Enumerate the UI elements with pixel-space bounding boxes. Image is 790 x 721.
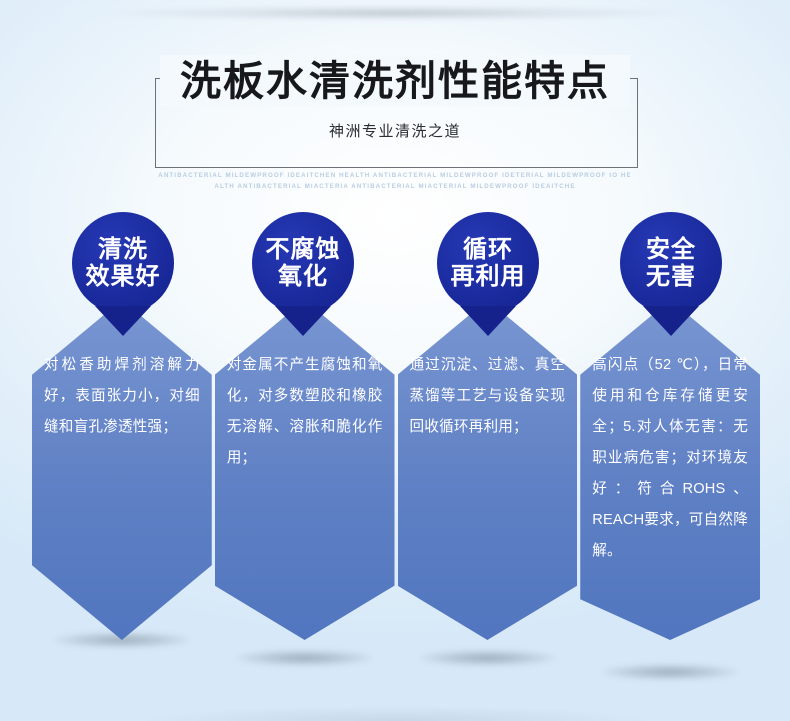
badge-line-3b: 再利用 — [451, 263, 526, 290]
feature-column-2: 对金属不产生腐蚀和氧化，对多数塑胶和橡胶无溶解、溶胀和脆化作用； — [215, 300, 395, 640]
column-shadow — [419, 650, 556, 666]
feature-badge-2: 不腐蚀 氧化 — [252, 212, 354, 314]
feature-column-3: 通过沉淀、过滤、真空蒸馏等工艺与设备实现回收循环再利用； — [398, 300, 578, 640]
badge-line-4a: 安全 — [646, 236, 696, 263]
feature-column-4: 高闪点（52 ℃），日常使用和仓库存储更安全；5.对人体无害：无职业病危害；对环… — [580, 300, 760, 640]
badge-line-3a: 循环 — [463, 236, 513, 263]
badge-line-4b: 无害 — [646, 263, 696, 290]
column-shadow — [602, 664, 739, 680]
badge-line-1a: 清洗 — [98, 236, 148, 263]
english-line-2: ALTH ANTIBACTERIAL MIACTERIA ANTIBACTERI… — [0, 181, 790, 192]
feature-badge-4: 安全 无害 — [620, 212, 722, 314]
feature-body-2: 对金属不产生腐蚀和氧化，对多数塑胶和橡胶无溶解、溶胀和脆化作用； — [227, 350, 383, 474]
feature-column-1: 对松香助焊剂溶解力好，表面张力小，对细缝和盲孔渗透性强； — [32, 300, 212, 640]
feature-badge-3: 循环 再利用 — [437, 212, 539, 314]
feature-body-1: 对松香助焊剂溶解力好，表面张力小，对细缝和盲孔渗透性强； — [44, 350, 200, 443]
bottom-shadow-band — [60, 681, 730, 721]
top-shadow-band — [95, 6, 695, 20]
badge-line-1b: 效果好 — [86, 263, 161, 290]
decorative-english-text: ANTIBACTERIAL MILDEWPROOF IDEAITCHEN HEA… — [0, 170, 790, 192]
feature-columns: 对松香助焊剂溶解力好，表面张力小，对细缝和盲孔渗透性强； 对金属不产生腐蚀和氧化… — [32, 300, 760, 640]
badge-line-2a: 不腐蚀 — [266, 236, 341, 263]
column-shadow — [236, 650, 373, 666]
feature-badge-1: 清洗 效果好 — [72, 212, 174, 314]
badge-line-2b: 氧化 — [278, 263, 328, 290]
feature-body-3: 通过沉淀、过滤、真空蒸馏等工艺与设备实现回收循环再利用； — [410, 350, 566, 443]
feature-body-4: 高闪点（52 ℃），日常使用和仓库存储更安全；5.对人体无害：无职业病危害；对环… — [592, 350, 748, 567]
page-subtitle: 神洲专业清洗之道 — [0, 120, 790, 141]
poster-canvas: 洗板水清洗剂性能特点 神洲专业清洗之道 ANTIBACTERIAL MILDEW… — [0, 0, 790, 721]
english-line-1: ANTIBACTERIAL MILDEWPROOF IDEAITCHEN HEA… — [0, 170, 790, 181]
